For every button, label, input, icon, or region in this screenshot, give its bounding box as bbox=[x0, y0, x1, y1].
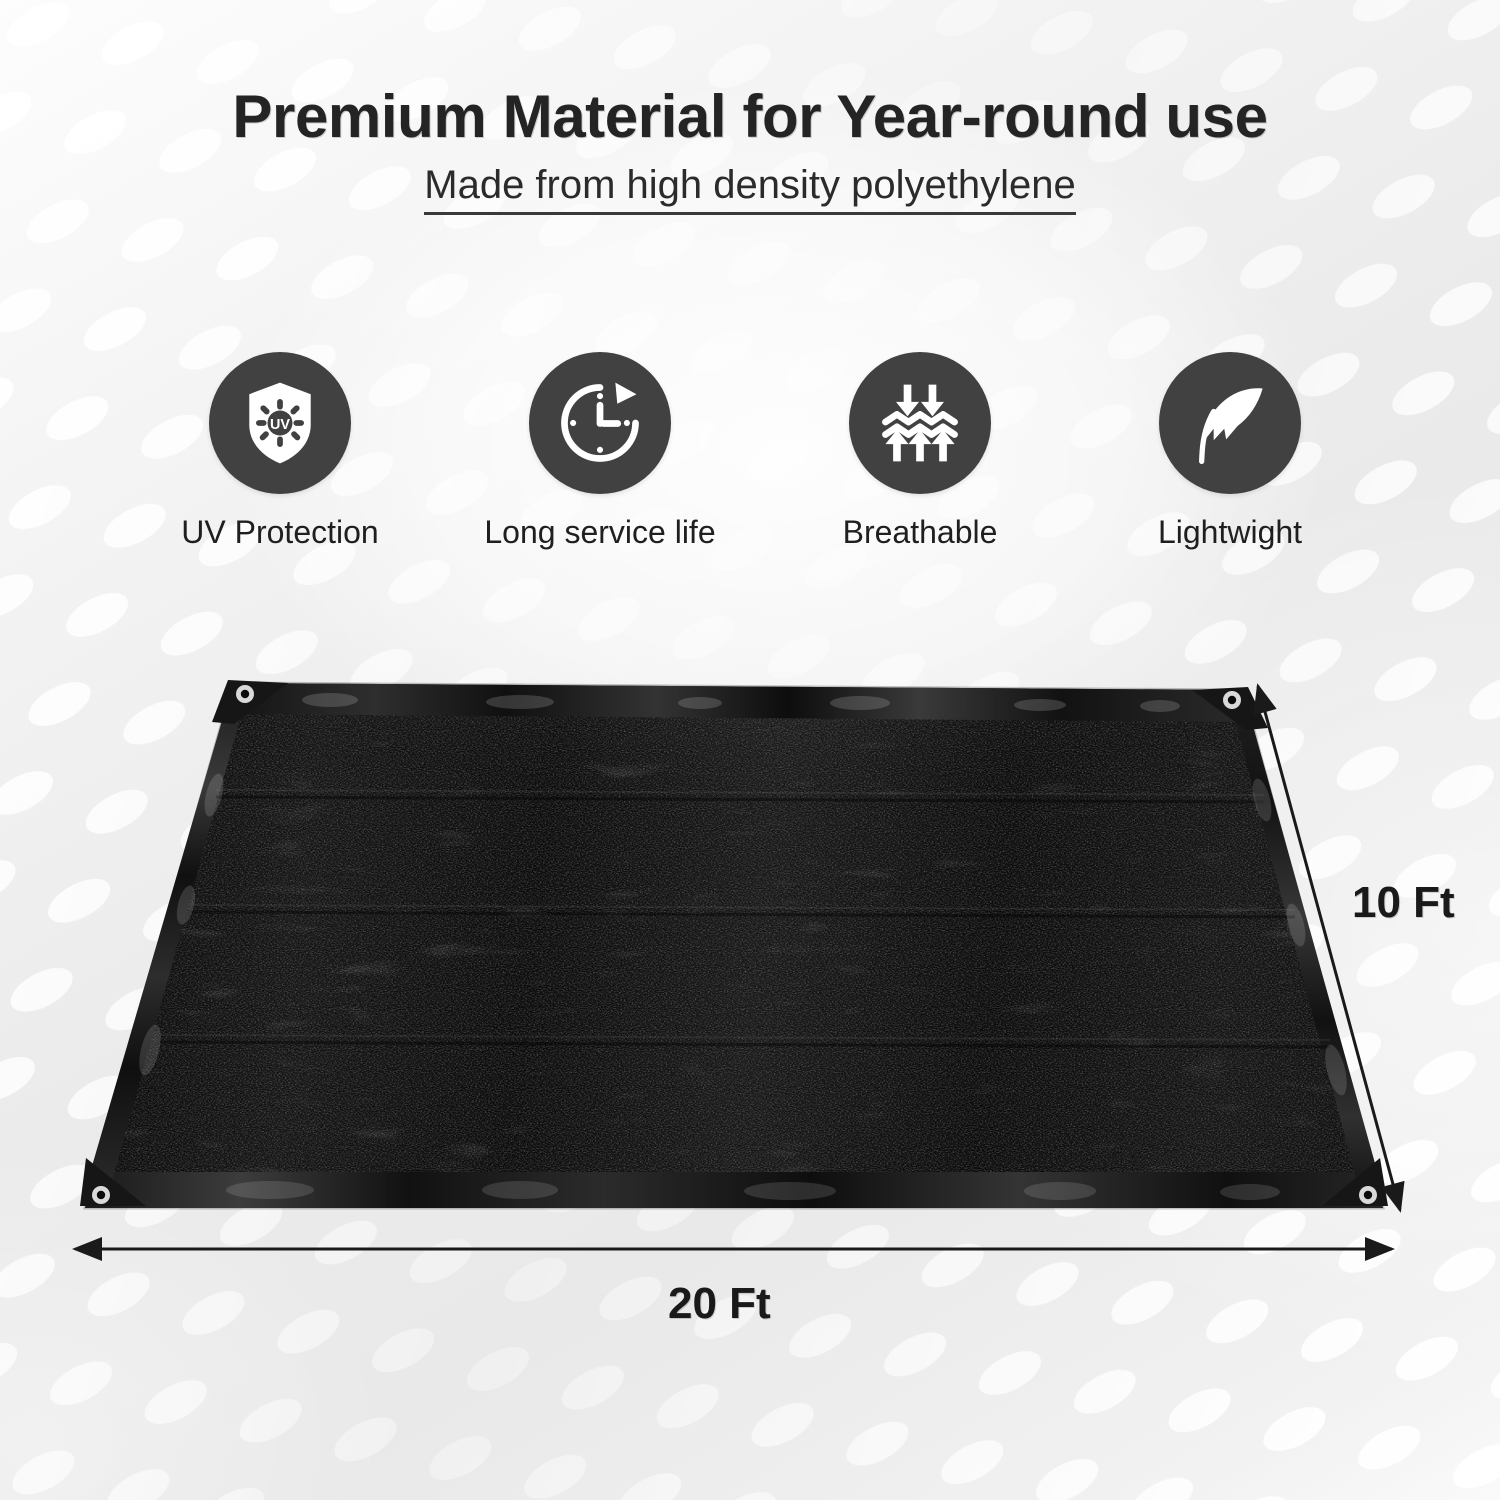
promo-infographic: Premium Material for Year-round use Made… bbox=[0, 0, 1500, 1500]
width-dimension-label: 20 Ft bbox=[668, 1279, 771, 1329]
dimension-callouts bbox=[0, 0, 1500, 1500]
height-dimension-label: 10 Ft bbox=[1352, 878, 1455, 928]
height-dimension-arrow bbox=[1258, 686, 1400, 1210]
